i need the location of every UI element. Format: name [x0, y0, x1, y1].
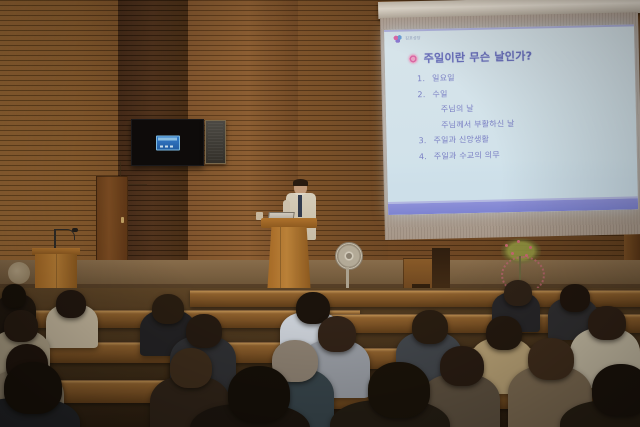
fan-head-icon	[335, 242, 363, 270]
list-item: 3. 주일과 신앙생활	[418, 133, 618, 146]
list-item: 4. 주일과 수교의 의무	[419, 148, 619, 161]
person-head	[560, 284, 590, 312]
flower-bloom	[511, 252, 514, 255]
pulpit-seam	[280, 227, 281, 295]
person-head	[486, 316, 522, 350]
wall-speaker-box	[205, 120, 226, 164]
presenter-tie	[298, 195, 302, 217]
church-presentation-photo: 김포성당 주일이란 무슨 날인가? 1. 일요일 2. 수일 주님의 날 주님께…	[0, 0, 640, 427]
list-subitem: 주님께서 부활하신 날	[441, 117, 618, 129]
slide-title-row: 주일이란 무슨 날인가?	[408, 48, 532, 67]
fan-hub	[346, 253, 352, 259]
flower-bloom	[505, 244, 508, 247]
person-head	[504, 280, 532, 306]
flower-bloom	[525, 254, 528, 257]
decorative-plant	[8, 262, 30, 284]
projection-screen: 김포성당 주일이란 무슨 날인가? 1. 일요일 2. 수일 주님의 날 주님께…	[378, 2, 640, 244]
pulpit-body	[267, 227, 311, 295]
speaker-grill	[208, 123, 223, 161]
person-head	[440, 346, 484, 386]
list-item-label: 일요일	[432, 74, 455, 83]
list-item: 2. 수일	[417, 86, 617, 99]
person-head	[592, 364, 640, 416]
person-head	[4, 362, 62, 414]
side-door[interactable]	[96, 176, 128, 262]
logo-text: 김포성당	[405, 35, 421, 41]
person-head	[368, 362, 430, 418]
list-item-number: 2.	[417, 91, 425, 99]
person-head	[412, 310, 448, 344]
person-head	[4, 310, 38, 342]
congregation-area	[0, 288, 640, 427]
flower-bloom	[529, 246, 532, 249]
wooden-pulpit	[264, 218, 314, 296]
slide-logo: 김포성당	[393, 34, 421, 43]
person-head	[152, 294, 184, 324]
person-head	[170, 348, 212, 388]
list-subitem: 주님의 날	[441, 102, 618, 114]
person-head	[186, 314, 222, 348]
list-item: 1. 일요일	[417, 71, 617, 84]
presentation-slide: 김포성당 주일이란 무슨 날인가? 1. 일요일 2. 수일 주님의 날 주님께…	[384, 24, 638, 215]
person-head	[56, 290, 86, 318]
list-item-number: 4.	[419, 153, 427, 161]
list-item-label: 주일과 신앙생활	[433, 136, 489, 145]
person-head	[2, 284, 26, 308]
slide-bullet-list: 1. 일요일 2. 수일 주님의 날 주님께서 부활하신 날 3. 주일과 신앙…	[417, 71, 619, 169]
slide-title: 주일이란 무슨 날인가?	[423, 48, 532, 66]
standing-fan	[335, 242, 361, 294]
person-head	[528, 338, 574, 380]
wall-mounted-monitor[interactable]	[131, 119, 204, 166]
flower-bullet-icon	[409, 54, 418, 63]
list-item-number: 3.	[418, 137, 426, 145]
list-item-number: 1.	[417, 75, 425, 83]
flower-bloom	[517, 240, 520, 243]
window-content-lines	[160, 145, 175, 147]
window-titlebar	[158, 137, 177, 140]
door-handle-icon	[121, 217, 124, 223]
pulpit-top	[261, 218, 317, 228]
presenter-hair	[293, 179, 308, 186]
microphone-icon	[72, 228, 78, 232]
monitor-blue-window	[156, 135, 180, 150]
person-head	[228, 366, 290, 422]
fan-pole	[346, 267, 349, 289]
logo-mark-icon	[393, 35, 402, 43]
person-head	[318, 316, 356, 352]
list-item-label: 주일과 수교의 의무	[434, 151, 500, 160]
list-item-label: 수일	[432, 90, 447, 98]
person-head	[588, 306, 626, 340]
stage-chair	[432, 248, 450, 292]
